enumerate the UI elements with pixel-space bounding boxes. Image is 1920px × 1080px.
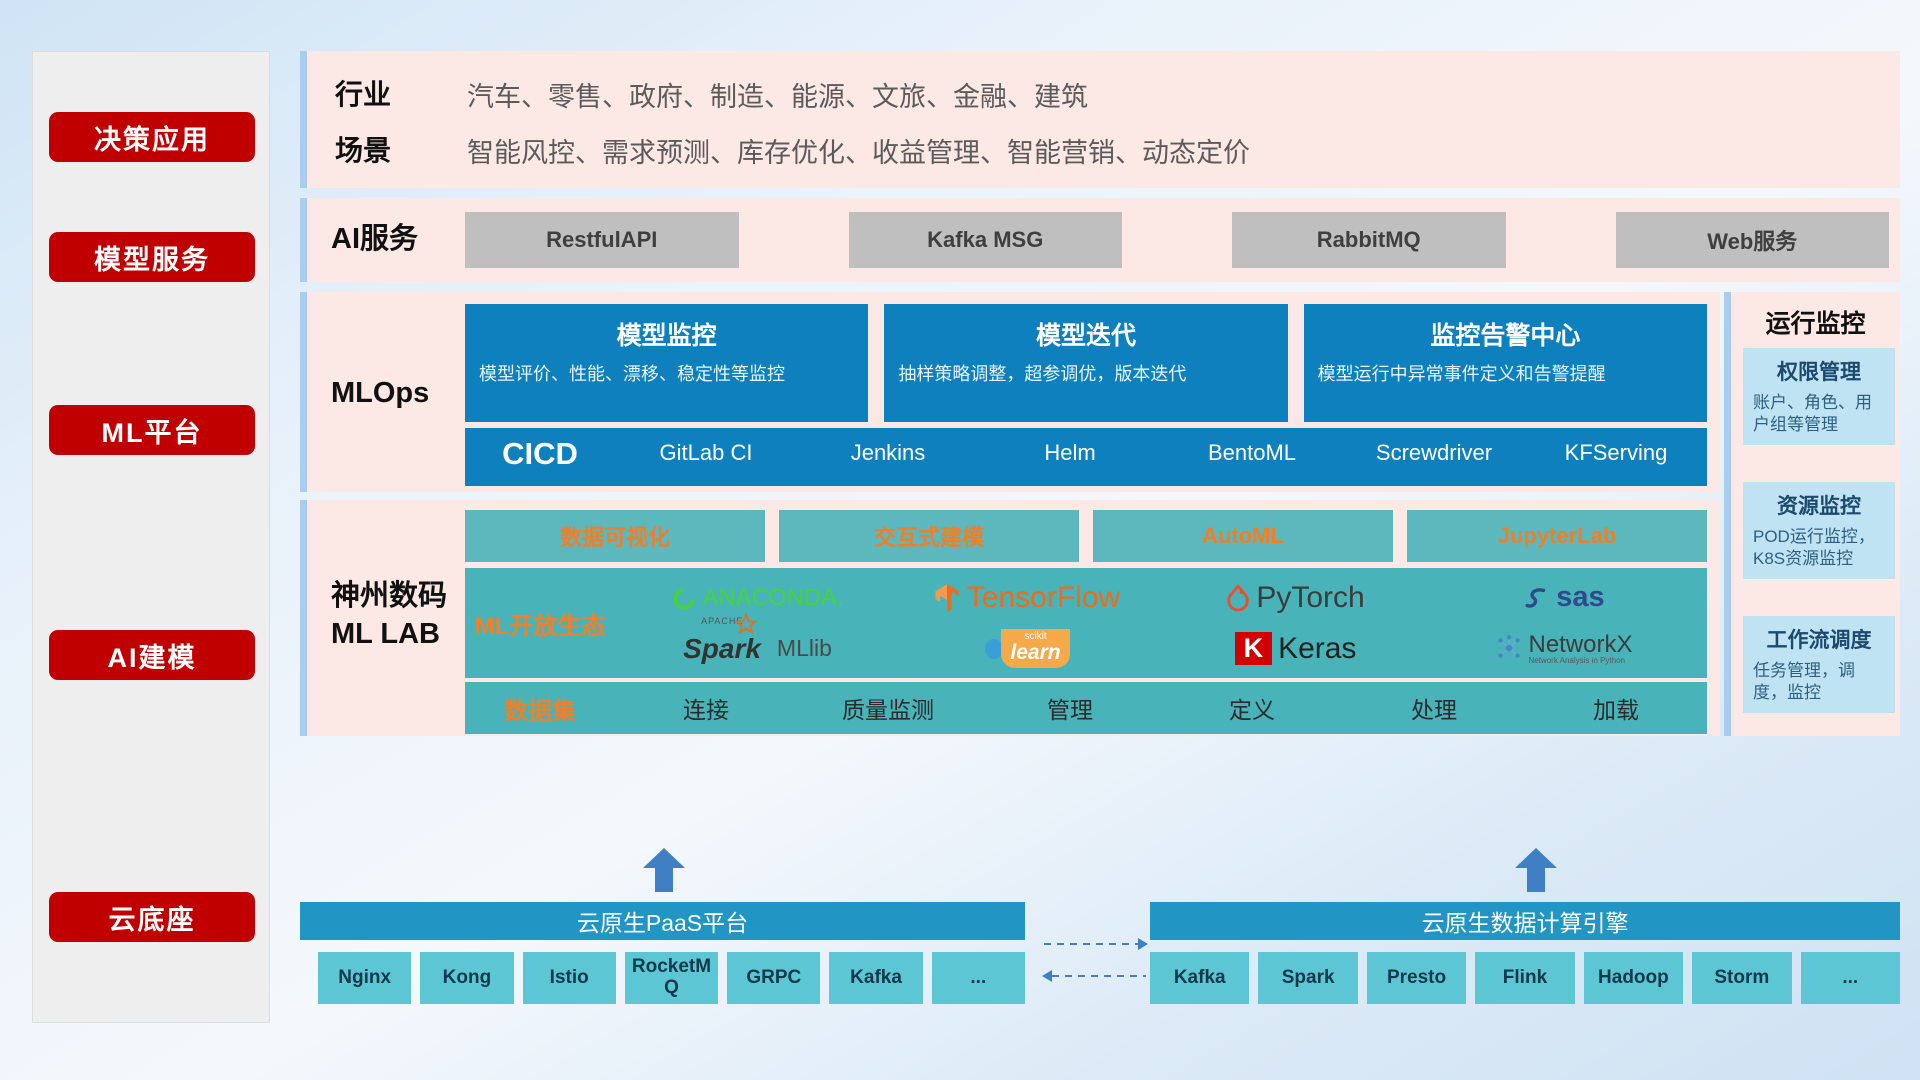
paas-engine-link-arrows-icon <box>1040 930 1150 990</box>
anaconda-icon <box>671 585 697 611</box>
networkx-logo: NetworkX Network Analysis in Python <box>1496 632 1632 666</box>
keras-k-icon: K <box>1235 632 1273 665</box>
data-engine-chip-row: KafkaSparkPrestoFlinkHadoopStorm... <box>1150 952 1900 1004</box>
run-monitoring-card-desc: 任务管理，调度，监控 <box>1753 660 1885 705</box>
ai-service-label: AI服务 <box>331 222 418 257</box>
mlops-label: MLOps <box>331 376 429 411</box>
spark-star-icon <box>735 613 757 635</box>
data-engine-header: 云原生数据计算引擎 <box>1150 902 1900 940</box>
run-monitoring-card[interactable]: 工作流调度任务管理，调度，监控 <box>1743 616 1895 713</box>
mlops-card[interactable]: 模型迭代抽样策略调整，超参调优，版本迭代 <box>884 304 1287 422</box>
cicd-item[interactable]: Helm <box>979 436 1161 467</box>
paas-chip-row: NginxKongIstioRocketMQGRPCKafka... <box>318 952 1025 1004</box>
cicd-item[interactable]: GitLab CI <box>615 436 797 467</box>
cloud-component-chip[interactable]: Storm <box>1692 952 1791 1004</box>
networkx-subtitle: Network Analysis in Python <box>1528 657 1632 665</box>
dataset-item[interactable]: 处理 <box>1343 691 1525 725</box>
cloud-component-chip[interactable]: Istio <box>523 952 616 1004</box>
dataset-band: 数据集 连接质量监测管理定义处理加载 <box>465 682 1707 734</box>
cicd-item[interactable]: KFServing <box>1525 436 1707 467</box>
tensorflow-logo-text: TensorFlow <box>967 581 1120 615</box>
run-monitoring-title: 运行监控 <box>1731 304 1900 340</box>
paas-up-arrow-icon <box>643 848 685 892</box>
dataset-label: 数据集 <box>465 691 615 726</box>
scenario-key: 场景 <box>335 129 391 169</box>
cicd-title: CICD <box>465 436 615 472</box>
run-monitoring-card-title: 权限管理 <box>1753 356 1885 386</box>
cloud-component-chip[interactable]: Kong <box>420 952 513 1004</box>
stack-layer-chip[interactable]: 模型服务 <box>49 232 255 282</box>
tensorflow-icon <box>933 583 961 613</box>
cloud-component-chip[interactable]: Kafka <box>829 952 922 1004</box>
cloud-component-chip[interactable]: Nginx <box>318 952 411 1004</box>
run-monitoring-panel: 运行监控 权限管理账户、角色、用户组等管理资源监控POD运行监控，K8S资源监控… <box>1724 292 1900 736</box>
industry-value: 汽车、零售、政府、制造、能源、文旅、金融、建筑 <box>467 75 1088 114</box>
networkx-icon <box>1496 635 1522 661</box>
ai-service-chip-group: RestfulAPIKafka MSGRabbitMQWeb服务 <box>465 212 1889 268</box>
cloud-component-chip[interactable]: ... <box>932 952 1025 1004</box>
ml-ecosystem-label: ML开放生态 <box>465 606 615 641</box>
cicd-item[interactable]: Screwdriver <box>1343 436 1525 467</box>
scenario-value: 智能风控、需求预测、库存优化、收益管理、智能营销、动态定价 <box>467 131 1250 170</box>
ml-lab-label: 神州数码 ML LAB <box>331 578 447 653</box>
mllib-logo-text: MLlib <box>777 635 832 662</box>
cicd-item[interactable]: BentoML <box>1161 436 1343 467</box>
spark-mllib-logo: APACHE Spark MLlib <box>683 633 832 665</box>
cloud-component-chip[interactable]: ... <box>1801 952 1900 1004</box>
mlops-card-title: 模型迭代 <box>898 316 1273 352</box>
cloud-component-chip[interactable]: Flink <box>1475 952 1574 1004</box>
keras-logo: K Keras <box>1235 632 1357 666</box>
cloud-component-chip[interactable]: Spark <box>1258 952 1357 1004</box>
mlops-band: MLOps 模型监控模型评价、性能、漂移、稳定性等监控模型迭代抽样策略调整，超参… <box>300 292 1720 492</box>
tensorflow-logo: TensorFlow <box>933 581 1120 615</box>
dataset-item[interactable]: 定义 <box>1161 691 1343 725</box>
stack-layer-rail: 决策应用模型服务ML平台AI建模云底座 <box>32 51 270 1023</box>
ai-service-chip[interactable]: RabbitMQ <box>1232 212 1506 268</box>
dataset-item[interactable]: 加载 <box>1525 691 1707 725</box>
cloud-component-chip[interactable]: Presto <box>1367 952 1466 1004</box>
paas-platform-header: 云原生PaaS平台 <box>300 902 1025 940</box>
ai-service-chip[interactable]: Web服务 <box>1616 212 1890 268</box>
stack-layer-chip[interactable]: 云底座 <box>49 892 255 942</box>
pytorch-icon <box>1226 584 1250 612</box>
run-monitoring-card[interactable]: 权限管理账户、角色、用户组等管理 <box>1743 348 1895 445</box>
mlops-card-desc: 模型评价、性能、漂移、稳定性等监控 <box>479 362 854 386</box>
ml-ecosystem-band: ML开放生态 ANACONDA. TensorFlow <box>465 568 1707 678</box>
cloud-component-chip[interactable]: RocketMQ <box>625 952 718 1004</box>
modeling-tool-chip[interactable]: JupyterLab <box>1407 510 1707 562</box>
cicd-bar: CICD GitLab CIJenkinsHelmBentoMLScrewdri… <box>465 428 1707 486</box>
mlops-card[interactable]: 监控告警中心模型运行中异常事件定义和告警提醒 <box>1304 304 1707 422</box>
mlops-card-group: 模型监控模型评价、性能、漂移、稳定性等监控模型迭代抽样策略调整，超参调优，版本迭… <box>465 304 1707 422</box>
ml-lab-label-line2: ML LAB <box>331 616 447 654</box>
engine-up-arrow-icon <box>1515 848 1557 892</box>
scikit-learn-logo: scikit learn <box>983 629 1069 668</box>
ml-lab-label-line1: 神州数码 <box>331 578 447 616</box>
run-monitoring-card-desc: 账户、角色、用户组等管理 <box>1753 392 1885 437</box>
learn-logo-text: learn <box>1010 642 1060 664</box>
spark-logo-text: Spark <box>683 633 761 664</box>
stack-layer-chip[interactable]: ML平台 <box>49 405 255 455</box>
modeling-tool-chip[interactable]: 数据可视化 <box>465 510 765 562</box>
networkx-logo-text: NetworkX <box>1528 632 1632 657</box>
dataset-item[interactable]: 质量监测 <box>797 691 979 725</box>
sas-logo-text: sas <box>1556 581 1604 614</box>
mlops-card-title: 监控告警中心 <box>1318 316 1693 352</box>
dataset-item[interactable]: 管理 <box>979 691 1161 725</box>
run-monitoring-card-title: 资源监控 <box>1753 490 1885 520</box>
sas-icon <box>1524 585 1550 611</box>
cloud-component-chip[interactable]: Hadoop <box>1584 952 1683 1004</box>
mlops-card-desc: 模型运行中异常事件定义和告警提醒 <box>1318 362 1693 386</box>
stack-layer-chip[interactable]: 决策应用 <box>49 112 255 162</box>
cloud-component-chip[interactable]: Kafka <box>1150 952 1249 1004</box>
industry-key: 行业 <box>335 73 391 113</box>
industry-scenario-band: 行业 汽车、零售、政府、制造、能源、文旅、金融、建筑 场景 智能风控、需求预测、… <box>300 51 1900 188</box>
pytorch-logo-text: PyTorch <box>1256 581 1364 615</box>
mlops-card-desc: 抽样策略调整，超参调优，版本迭代 <box>898 362 1273 386</box>
modeling-tool-chip[interactable]: AutoML <box>1093 510 1393 562</box>
run-monitoring-card-desc: POD运行监控，K8S资源监控 <box>1753 526 1885 571</box>
mlops-card-title: 模型监控 <box>479 316 854 352</box>
modeling-tool-chip[interactable]: 交互式建模 <box>779 510 1079 562</box>
keras-logo-text: Keras <box>1278 632 1356 666</box>
ml-ecosystem-logo-grid: ANACONDA. TensorFlow PyTorch <box>615 568 1707 678</box>
anaconda-logo: ANACONDA. <box>671 584 844 611</box>
ai-service-chip[interactable]: Kafka MSG <box>849 212 1123 268</box>
run-monitoring-card[interactable]: 资源监控POD运行监控，K8S资源监控 <box>1743 482 1895 579</box>
cloud-component-chip[interactable]: GRPC <box>727 952 820 1004</box>
mlops-card[interactable]: 模型监控模型评价、性能、漂移、稳定性等监控 <box>465 304 868 422</box>
run-monitoring-card-title: 工作流调度 <box>1753 624 1885 654</box>
pytorch-logo: PyTorch <box>1226 581 1364 615</box>
dataset-item[interactable]: 连接 <box>615 691 797 725</box>
ai-service-band: AI服务 RestfulAPIKafka MSGRabbitMQWeb服务 <box>300 198 1900 282</box>
stack-layer-chip[interactable]: AI建模 <box>49 630 255 680</box>
cicd-item[interactable]: Jenkins <box>797 436 979 467</box>
ai-modeling-band: 神州数码 ML LAB 数据可视化交互式建模AutoMLJupyterLab M… <box>300 500 1720 736</box>
anaconda-logo-text: ANACONDA. <box>703 584 844 611</box>
sas-logo: sas <box>1524 581 1604 614</box>
ai-service-chip[interactable]: RestfulAPI <box>465 212 739 268</box>
modeling-tool-chip-group: 数据可视化交互式建模AutoMLJupyterLab <box>465 510 1707 562</box>
